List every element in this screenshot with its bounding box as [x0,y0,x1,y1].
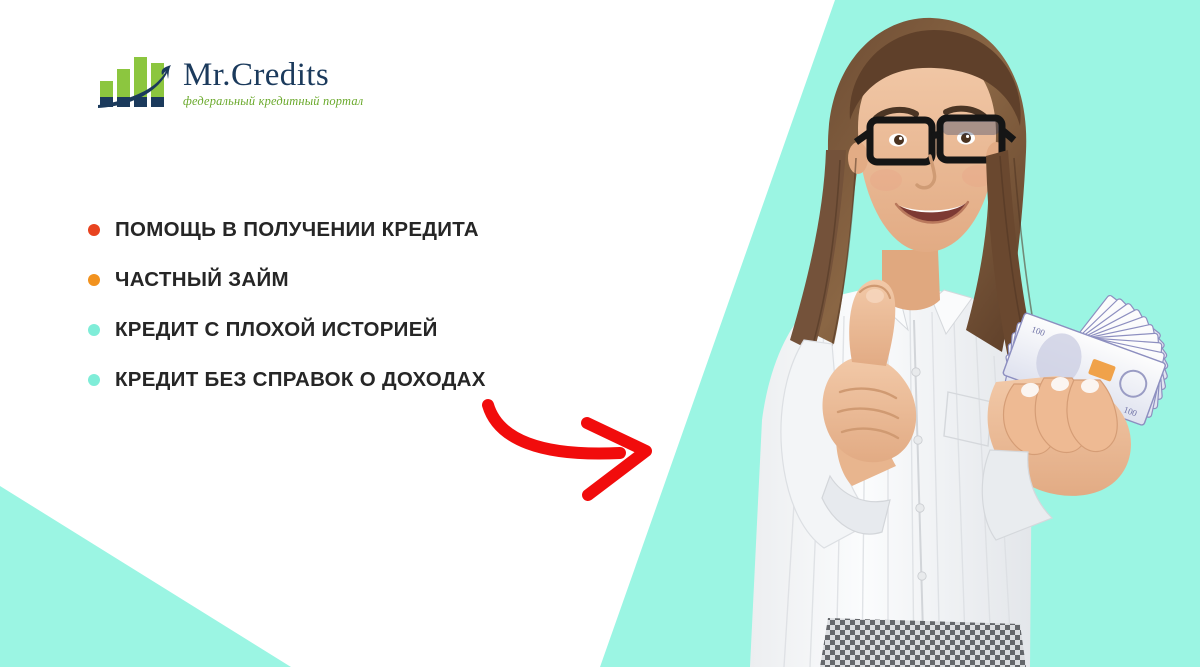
services-list: ПОМОЩЬ В ПОЛУЧЕНИИ КРЕДИТА ЧАСТНЫЙ ЗАЙМ … [88,205,608,405]
promo-banner: Mr.Credits федеральный кредитный портал … [0,0,1200,667]
brand-tagline: федеральный кредитный портал [183,95,363,109]
bullet-dot-icon [88,274,100,286]
bullet-dot-icon [88,324,100,336]
bar-chart-growth-icon [98,53,174,109]
list-item[interactable]: ПОМОЩЬ В ПОЛУЧЕНИИ КРЕДИТА [88,205,608,255]
bullet-dot-icon [88,374,100,386]
service-label: КРЕДИТ С ПЛОХОЙ ИСТОРИЕЙ [115,318,438,342]
list-item[interactable]: ЧАСТНЫЙ ЗАЙМ [88,255,608,305]
service-label: КРЕДИТ БЕЗ СПРАВОК О ДОХОДАХ [115,368,486,392]
brand-logo[interactable]: Mr.Credits федеральный кредитный портал [98,53,363,109]
service-label: ПОМОЩЬ В ПОЛУЧЕНИИ КРЕДИТА [115,218,479,242]
brand-title: Mr.Credits [183,59,363,92]
bullet-dot-icon [88,224,100,236]
woman-thumbs-up-holding-money-icon: 100 100 [700,0,1200,667]
brand-logo-text: Mr.Credits федеральный кредитный портал [183,59,363,109]
curved-arrow-right-icon [480,395,680,505]
service-label: ЧАСТНЫЙ ЗАЙМ [115,268,289,292]
list-item[interactable]: КРЕДИТ С ПЛОХОЙ ИСТОРИЕЙ [88,305,608,355]
